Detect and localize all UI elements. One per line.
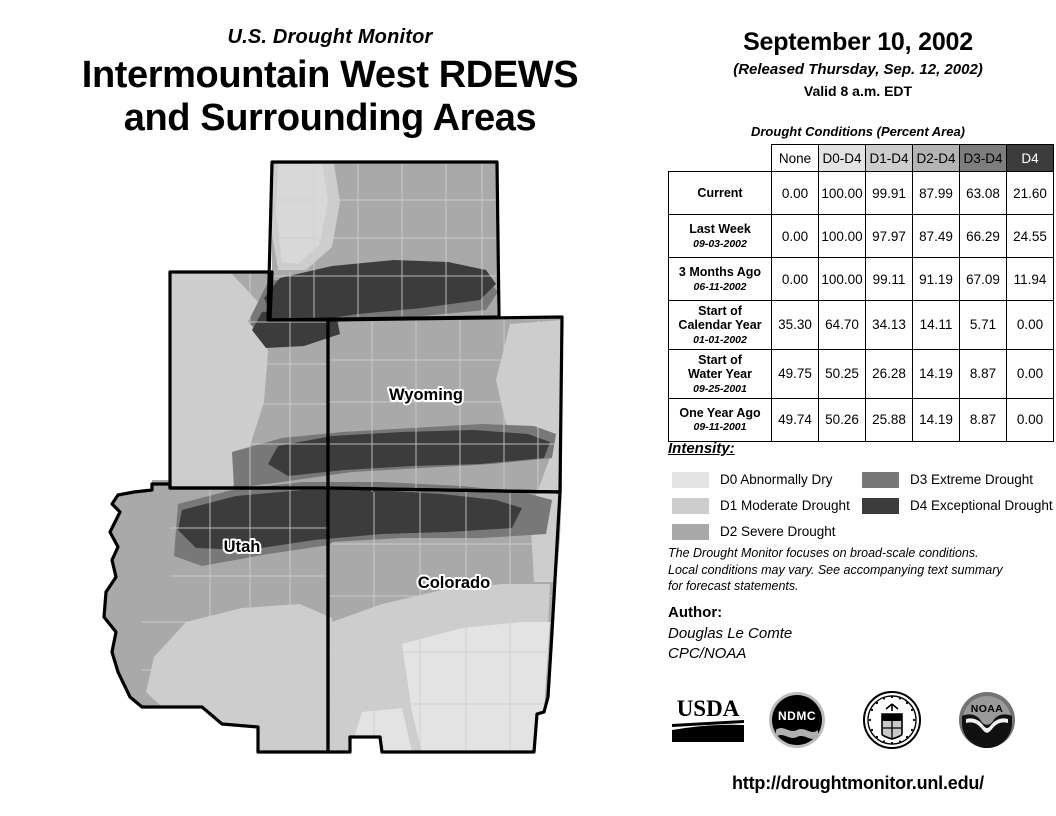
table-cell: 67.09 — [960, 258, 1007, 301]
row-label-line: Calendar Year — [671, 318, 769, 332]
table-cell: 64.70 — [819, 301, 866, 350]
table-cell: 0.00 — [772, 215, 819, 258]
report-valid: Valid 8 a.m. EDT — [660, 83, 1056, 99]
ndmc-logo-icon: NDMC — [767, 690, 827, 750]
state-label-wyoming: Wyoming — [389, 386, 463, 404]
usda-logo[interactable]: USDA — [668, 694, 748, 751]
noaa-logo[interactable]: NOAA — [957, 690, 1017, 755]
row-label-line: 3 Months Ago — [671, 265, 769, 279]
row-label-date: 09-03-2002 — [671, 238, 769, 250]
legend-item-d1: D1 Moderate Drought — [672, 494, 850, 517]
row-label: Start ofCalendar Year01-01-2002 — [669, 301, 772, 350]
table-cell: 66.29 — [960, 215, 1007, 258]
table-corner-cell — [669, 145, 772, 172]
table-cell: 87.49 — [913, 215, 960, 258]
svg-text:USDA: USDA — [677, 696, 740, 721]
table-cell: 87.99 — [913, 172, 960, 215]
table-cell: 21.60 — [1007, 172, 1054, 215]
table-cell: 14.19 — [913, 349, 960, 398]
row-label: 3 Months Ago06-11-2002 — [669, 258, 772, 301]
disclaimer-line-1: The Drought Monitor focuses on broad-sca… — [668, 545, 1048, 562]
legend-label-d4: D4 Exceptional Drought — [910, 498, 1053, 513]
table-cell: 100.00 — [819, 258, 866, 301]
usda-seal-logo[interactable] — [862, 690, 922, 755]
table-cell: 100.00 — [819, 172, 866, 215]
author-label: Author: — [668, 603, 792, 624]
noaa-logo-icon: NOAA — [957, 690, 1017, 750]
table-caption: Drought Conditions (Percent Area) — [660, 124, 1056, 139]
row-label-date: 09-25-2001 — [671, 383, 769, 395]
table-cell: 91.19 — [913, 258, 960, 301]
state-label-utah: Utah — [224, 538, 261, 556]
col-header-d3d4: D3-D4 — [960, 145, 1007, 172]
page-title: Intermountain West RDEWS and Surrounding… — [0, 54, 660, 139]
table-row: Last Week09-03-20020.00100.0097.9787.496… — [669, 215, 1054, 258]
table-cell: 100.00 — [819, 215, 866, 258]
table-cell: 0.00 — [1007, 349, 1054, 398]
row-label-line: One Year Ago — [671, 406, 769, 420]
legend-item-d4: D4 Exceptional Drought — [862, 494, 1053, 517]
row-label: Current — [669, 172, 772, 215]
row-label-line: Water Year — [671, 367, 769, 381]
table-header: None D0-D4 D1-D4 D2-D4 D3-D4 D4 — [669, 145, 1054, 172]
table-row: 3 Months Ago06-11-20020.00100.0099.1191.… — [669, 258, 1054, 301]
department-seal-icon — [862, 690, 922, 750]
legend-swatch-d1 — [672, 498, 709, 514]
legend-label-d2: D2 Severe Drought — [720, 524, 836, 539]
table-cell: 50.26 — [819, 398, 866, 441]
disclaimer-line-3: for forecast statements. — [668, 578, 1048, 595]
table-cell: 49.74 — [772, 398, 819, 441]
table-cell: 0.00 — [772, 258, 819, 301]
table-cell: 63.08 — [960, 172, 1007, 215]
table-cell: 26.28 — [866, 349, 913, 398]
table-cell: 97.97 — [866, 215, 913, 258]
table-body: Current0.00100.0099.9187.9963.0821.60Las… — [669, 172, 1054, 442]
col-header-d1d4: D1-D4 — [866, 145, 913, 172]
page-title-line2: and Surrounding Areas — [0, 97, 660, 140]
table-row: Start ofWater Year09-25-200149.7550.2526… — [669, 349, 1054, 398]
author-name: Douglas Le Comte — [668, 624, 792, 645]
table-cell: 99.11 — [866, 258, 913, 301]
row-label-date: 09-11-2001 — [671, 421, 769, 433]
row-label-line: Current — [671, 186, 769, 200]
legend-item-d2: D2 Severe Drought — [672, 520, 850, 543]
legend-label-d3: D3 Extreme Drought — [910, 472, 1033, 487]
table-cell: 8.87 — [960, 398, 1007, 441]
row-label: Last Week09-03-2002 — [669, 215, 772, 258]
legend-swatch-d2 — [672, 524, 709, 540]
svg-text:NOAA: NOAA — [971, 703, 1004, 715]
author-block: Author: Douglas Le Comte CPC/NOAA — [668, 603, 792, 665]
row-label-date: 01-01-2002 — [671, 334, 769, 346]
table-cell: 14.19 — [913, 398, 960, 441]
table-cell: 50.25 — [819, 349, 866, 398]
legend-label-d0: D0 Abnormally Dry — [720, 472, 833, 487]
state-label-colorado: Colorado — [418, 574, 490, 592]
website-url[interactable]: http://droughtmonitor.unl.edu/ — [660, 773, 1056, 794]
col-header-d0d4: D0-D4 — [819, 145, 866, 172]
intensity-legend-left: D0 Abnormally DryD1 Moderate DroughtD2 S… — [672, 468, 850, 546]
author-affiliation: CPC/NOAA — [668, 644, 792, 665]
col-header-none: None — [772, 145, 819, 172]
usda-logo-icon: USDA — [668, 694, 748, 746]
page-title-line1: Intermountain West RDEWS — [0, 54, 660, 97]
legend-swatch-d3 — [862, 472, 899, 488]
table-row: One Year Ago09-11-200149.7450.2625.8814.… — [669, 398, 1054, 441]
drought-map-svg[interactable]: Wyoming Utah Colorado Arizona New Mexico — [82, 152, 642, 772]
report-date-block: September 10, 2002 (Released Thursday, S… — [660, 28, 1056, 99]
ndmc-logo[interactable]: NDMC — [767, 690, 827, 755]
report-date: September 10, 2002 — [660, 28, 1056, 57]
legend-swatch-d4 — [862, 498, 899, 514]
table-cell: 0.00 — [1007, 301, 1054, 350]
table-cell: 34.13 — [866, 301, 913, 350]
table-cell: 11.94 — [1007, 258, 1054, 301]
table-cell: 99.91 — [866, 172, 913, 215]
disclaimer-text: The Drought Monitor focuses on broad-sca… — [668, 545, 1048, 595]
state-label-newmexico: New Mexico — [385, 770, 479, 772]
report-released: (Released Thursday, Sep. 12, 2002) — [660, 61, 1056, 78]
drought-conditions-table: None D0-D4 D1-D4 D2-D4 D3-D4 D4 Current0… — [668, 144, 1054, 442]
legend-swatch-d0 — [672, 472, 709, 488]
legend-item-d0: D0 Abnormally Dry — [672, 468, 850, 491]
drought-map[interactable]: Wyoming Utah Colorado Arizona New Mexico — [82, 152, 642, 772]
legend-label-d1: D1 Moderate Drought — [720, 498, 850, 513]
col-header-d2d4: D2-D4 — [913, 145, 960, 172]
table-header-row: None D0-D4 D1-D4 D2-D4 D3-D4 D4 — [669, 145, 1054, 172]
table-row: Start ofCalendar Year01-01-200235.3064.7… — [669, 301, 1054, 350]
table-cell: 14.11 — [913, 301, 960, 350]
table-cell: 49.75 — [772, 349, 819, 398]
row-label-date: 06-11-2002 — [671, 281, 769, 293]
row-label-line: Start of — [671, 304, 769, 318]
disclaimer-line-2: Local conditions may vary. See accompany… — [668, 562, 1048, 579]
table-cell: 0.00 — [1007, 398, 1054, 441]
row-label: One Year Ago09-11-2001 — [669, 398, 772, 441]
col-header-d4: D4 — [1007, 145, 1054, 172]
agency-logos: USDA NDMC — [660, 686, 1050, 756]
svg-text:NDMC: NDMC — [778, 709, 816, 723]
row-label: Start ofWater Year09-25-2001 — [669, 349, 772, 398]
table-cell: 0.00 — [772, 172, 819, 215]
map-intensity-layer — [82, 152, 642, 772]
table-cell: 8.87 — [960, 349, 1007, 398]
state-label-arizona: Arizona — [194, 770, 255, 772]
table-cell: 35.30 — [772, 301, 819, 350]
table-cell: 5.71 — [960, 301, 1007, 350]
legend-item-d3: D3 Extreme Drought — [862, 468, 1053, 491]
table-cell: 24.55 — [1007, 215, 1054, 258]
intensity-legend-title: Intensity: — [668, 440, 735, 457]
page-title-block: U.S. Drought Monitor Intermountain West … — [0, 26, 660, 139]
intensity-legend-right: D3 Extreme DroughtD4 Exceptional Drought — [862, 468, 1053, 520]
row-label-line: Start of — [671, 353, 769, 367]
program-title: U.S. Drought Monitor — [0, 26, 660, 48]
table-row: Current0.00100.0099.9187.9963.0821.60 — [669, 172, 1054, 215]
row-label-line: Last Week — [671, 222, 769, 236]
table-cell: 25.88 — [866, 398, 913, 441]
